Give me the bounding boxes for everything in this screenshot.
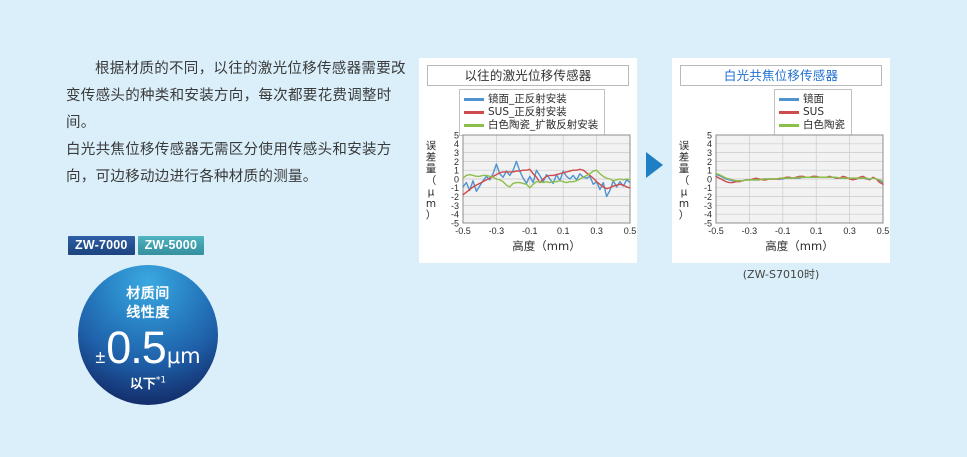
spec-highlight-circle: 材质间 线性度 ± 0.5 μm 以下*1: [78, 265, 218, 405]
plot-svg-legacy: 543210-1-2-3-4-5-0.5-0.3-0.10.10.30.5高度（…: [419, 128, 637, 263]
chart-plot-confocal: 543210-1-2-3-4-5-0.5-0.3-0.10.10.30.5高度（…: [672, 128, 890, 263]
svg-text:（: （: [426, 175, 437, 187]
svg-text:μ: μ: [428, 186, 435, 198]
legend-label-mirror: 镜面_正反射安装: [488, 93, 567, 106]
chart-card-confocal-sensor: 白光共焦位移传感器 镜面 SUS 白色陶瓷 543210-1-2-3-4-5-0…: [672, 58, 890, 263]
svg-text:0.5: 0.5: [877, 226, 890, 236]
circle-footnote-marker: *1: [156, 376, 166, 386]
legend-swatch-mirror: [779, 98, 799, 101]
svg-text:差: 差: [679, 151, 690, 164]
circle-value-row: ± 0.5 μm: [78, 325, 218, 370]
chart-title-confocal: 白光共焦位移传感器: [680, 65, 882, 86]
svg-text:（: （: [679, 175, 690, 187]
svg-text:-0.3: -0.3: [489, 226, 505, 236]
chart-plot-legacy: 543210-1-2-3-4-5-0.5-0.3-0.10.10.30.5高度（…: [419, 128, 637, 263]
legend-swatch-sus: [464, 111, 484, 114]
legend-item: 镜面_正反射安装: [464, 93, 598, 106]
svg-text:量: 量: [426, 163, 437, 175]
svg-text:-0.1: -0.1: [522, 226, 538, 236]
svg-text:）: ）: [426, 210, 437, 222]
legend-swatch-ceramic: [779, 124, 799, 127]
legend-label-sus: SUS: [803, 106, 824, 119]
legend-label-mirror: 镜面: [803, 93, 824, 106]
circle-caption-line-1: 材质间: [78, 285, 218, 304]
badge-zw-5000[interactable]: ZW-5000: [138, 236, 205, 255]
svg-text:m: m: [679, 198, 689, 210]
circle-caption-line-2: 线性度: [78, 304, 218, 323]
plot-svg-confocal: 543210-1-2-3-4-5-0.5-0.3-0.10.10.30.5高度（…: [672, 128, 890, 263]
chart-card-legacy-sensor: 以往的激光位移传感器 镜面_正反射安装 SUS_正反射安装 白色陶瓷_扩散反射安…: [419, 58, 637, 263]
svg-text:0.1: 0.1: [557, 226, 570, 236]
svg-text:-0.5: -0.5: [455, 226, 471, 236]
chart-caption-confocal: (ZW-S7010时): [672, 266, 890, 282]
svg-text:-0.1: -0.1: [775, 226, 791, 236]
svg-text:m: m: [426, 198, 436, 210]
legend-item: SUS: [779, 106, 845, 119]
svg-text:-0.5: -0.5: [708, 226, 724, 236]
badge-zw-7000[interactable]: ZW-7000: [68, 236, 135, 255]
svg-text:误: 误: [426, 140, 437, 152]
svg-text:μ: μ: [681, 186, 688, 198]
svg-text:量: 量: [679, 163, 690, 175]
legend-swatch-sus: [779, 111, 799, 114]
circle-suffix: 以下*1: [78, 373, 218, 392]
description-text-block: 根据材质的不同，以往的激光位移传感器需要改变传感头的种类和安装方向，每次都要花费…: [66, 56, 411, 191]
right-arrow-icon: [646, 152, 663, 178]
svg-text:高度（mm）: 高度（mm）: [765, 239, 833, 253]
svg-text:0.1: 0.1: [810, 226, 823, 236]
svg-text:0.5: 0.5: [624, 226, 637, 236]
svg-text:0.3: 0.3: [843, 226, 856, 236]
paragraph-1: 根据材质的不同，以往的激光位移传感器需要改变传感头的种类和安装方向，每次都要花费…: [66, 56, 411, 137]
legend-swatch-ceramic: [464, 124, 484, 127]
chart-title-legacy: 以往的激光位移传感器: [427, 65, 629, 86]
legend-item: SUS_正反射安装: [464, 106, 598, 119]
paragraph-2: 白光共焦位移传感器无需区分使用传感头和安装方向，可边移动边进行各种材质的测量。: [66, 137, 411, 191]
plus-minus-sign: ±: [95, 348, 105, 366]
product-badge-group: ZW-7000 ZW-5000: [68, 236, 204, 255]
page-root: 根据材质的不同，以往的激光位移传感器需要改变传感头的种类和安装方向，每次都要花费…: [0, 0, 967, 457]
svg-text:高度（mm）: 高度（mm）: [512, 239, 580, 253]
legend-swatch-mirror: [464, 98, 484, 101]
legend-label-sus: SUS_正反射安装: [488, 106, 567, 119]
svg-text:0.3: 0.3: [590, 226, 603, 236]
circle-suffix-text: 以下: [130, 377, 156, 392]
circle-value-unit: μm: [167, 346, 201, 367]
svg-text:误: 误: [679, 140, 690, 152]
svg-text:）: ）: [679, 210, 690, 222]
circle-value-number: 0.5: [106, 325, 166, 370]
svg-text:差: 差: [426, 151, 437, 164]
svg-text:-0.3: -0.3: [742, 226, 758, 236]
legend-item: 镜面: [779, 93, 845, 106]
